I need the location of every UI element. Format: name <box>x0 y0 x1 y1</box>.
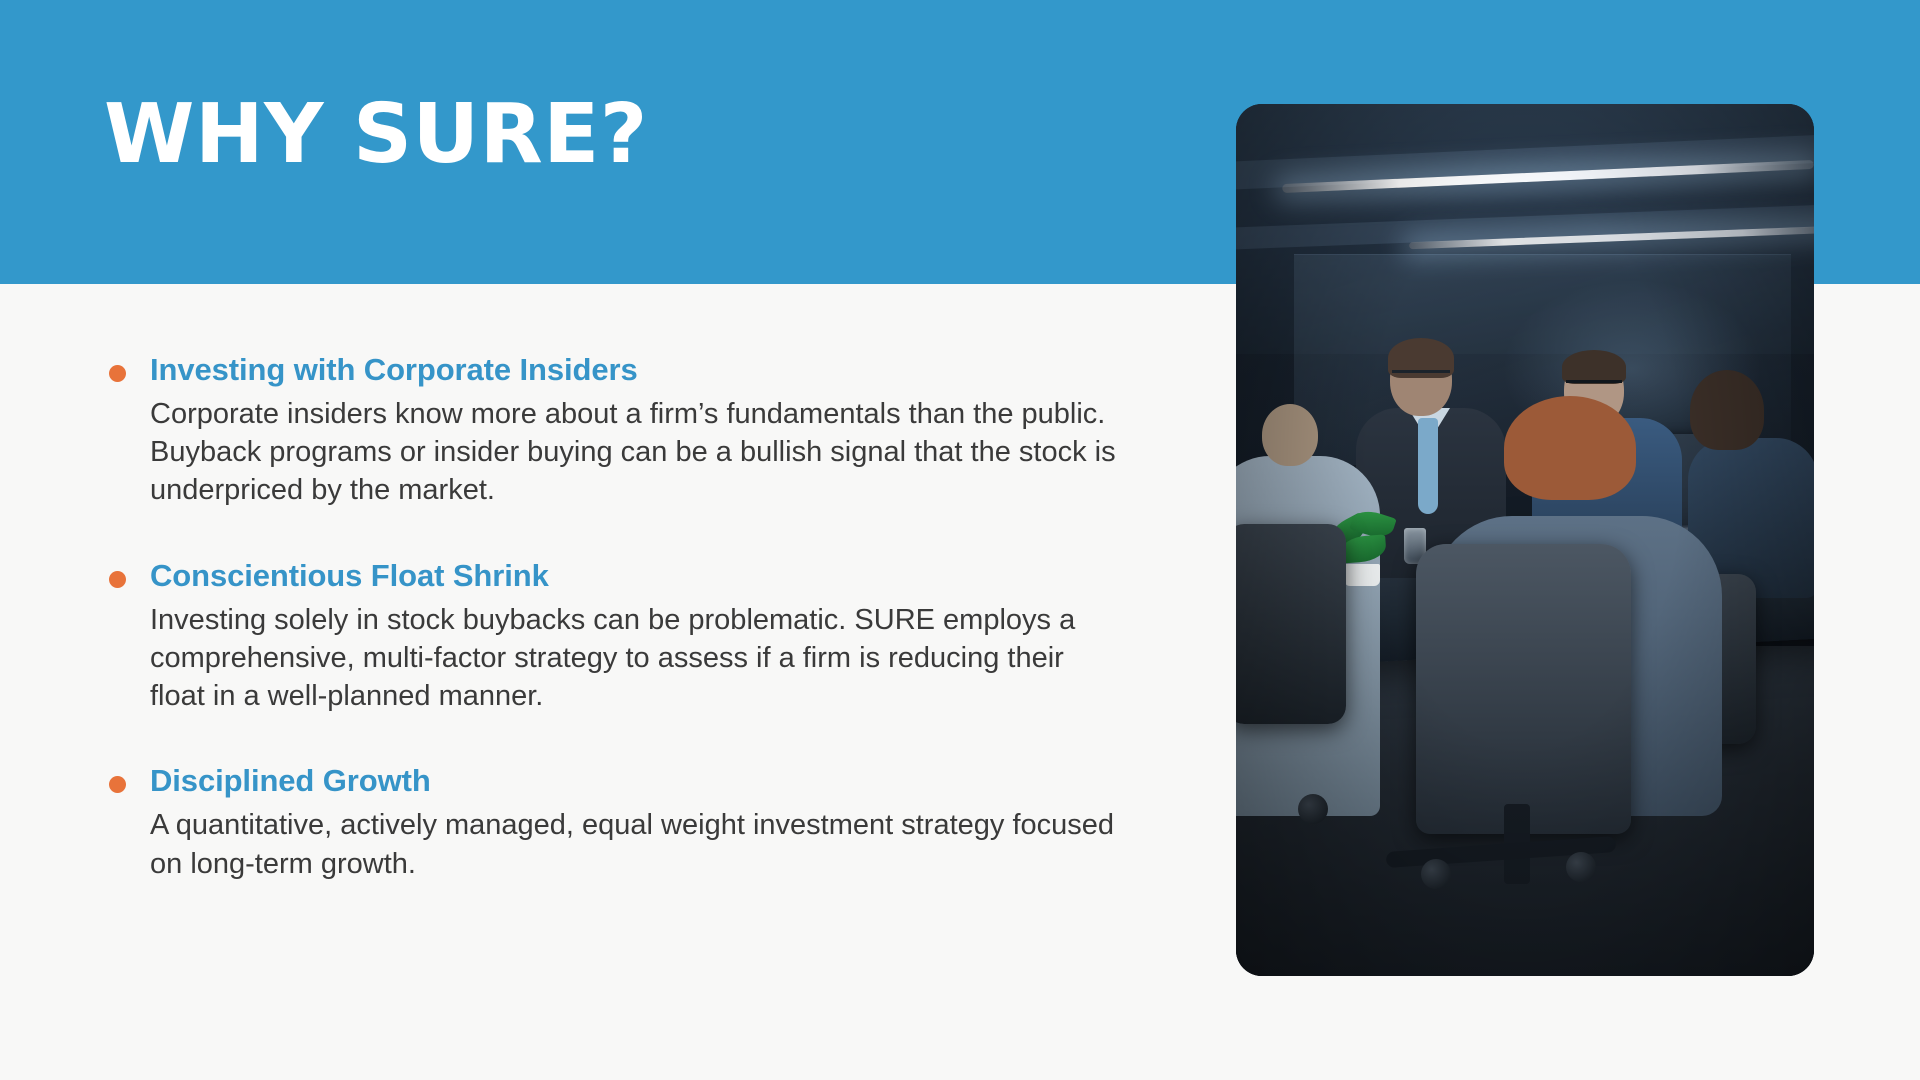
glasses-icon <box>1566 380 1622 394</box>
plant-pot <box>1344 564 1380 586</box>
slide: WHY SURE? Investing with Corporate Insid… <box>0 0 1920 1080</box>
bullet-list: Investing with Corporate Insiders Corpor… <box>104 348 1124 883</box>
glasses-icon <box>1392 370 1450 384</box>
bullet-dot-icon <box>109 571 126 588</box>
bullet-dot-icon <box>109 776 126 793</box>
hair <box>1504 396 1636 500</box>
bullet-body: Corporate insiders know more about a fir… <box>150 395 1124 510</box>
chair-caster <box>1566 852 1596 882</box>
bullet-dot-icon <box>109 365 126 382</box>
office-chair <box>1236 524 1346 724</box>
list-item: Disciplined Growth A quantitative, activ… <box>104 759 1124 882</box>
photo-scene <box>1236 104 1814 976</box>
bullet-body: Investing solely in stock buybacks can b… <box>150 601 1124 716</box>
bullet-heading: Conscientious Float Shrink <box>150 554 1124 599</box>
page-title: WHY SURE? <box>104 94 648 176</box>
list-item: Investing with Corporate Insiders Corpor… <box>104 348 1124 510</box>
bullet-heading: Disciplined Growth <box>150 759 1124 804</box>
list-item: Conscientious Float Shrink Investing sol… <box>104 554 1124 716</box>
bullet-heading: Investing with Corporate Insiders <box>150 348 1124 393</box>
boardroom-photo <box>1236 104 1814 976</box>
chair-caster <box>1421 859 1451 889</box>
head <box>1262 404 1318 466</box>
bullet-body: A quantitative, actively managed, equal … <box>150 806 1124 883</box>
chair-caster <box>1298 794 1328 824</box>
hair <box>1562 350 1626 384</box>
office-chair-foreground <box>1416 544 1631 834</box>
